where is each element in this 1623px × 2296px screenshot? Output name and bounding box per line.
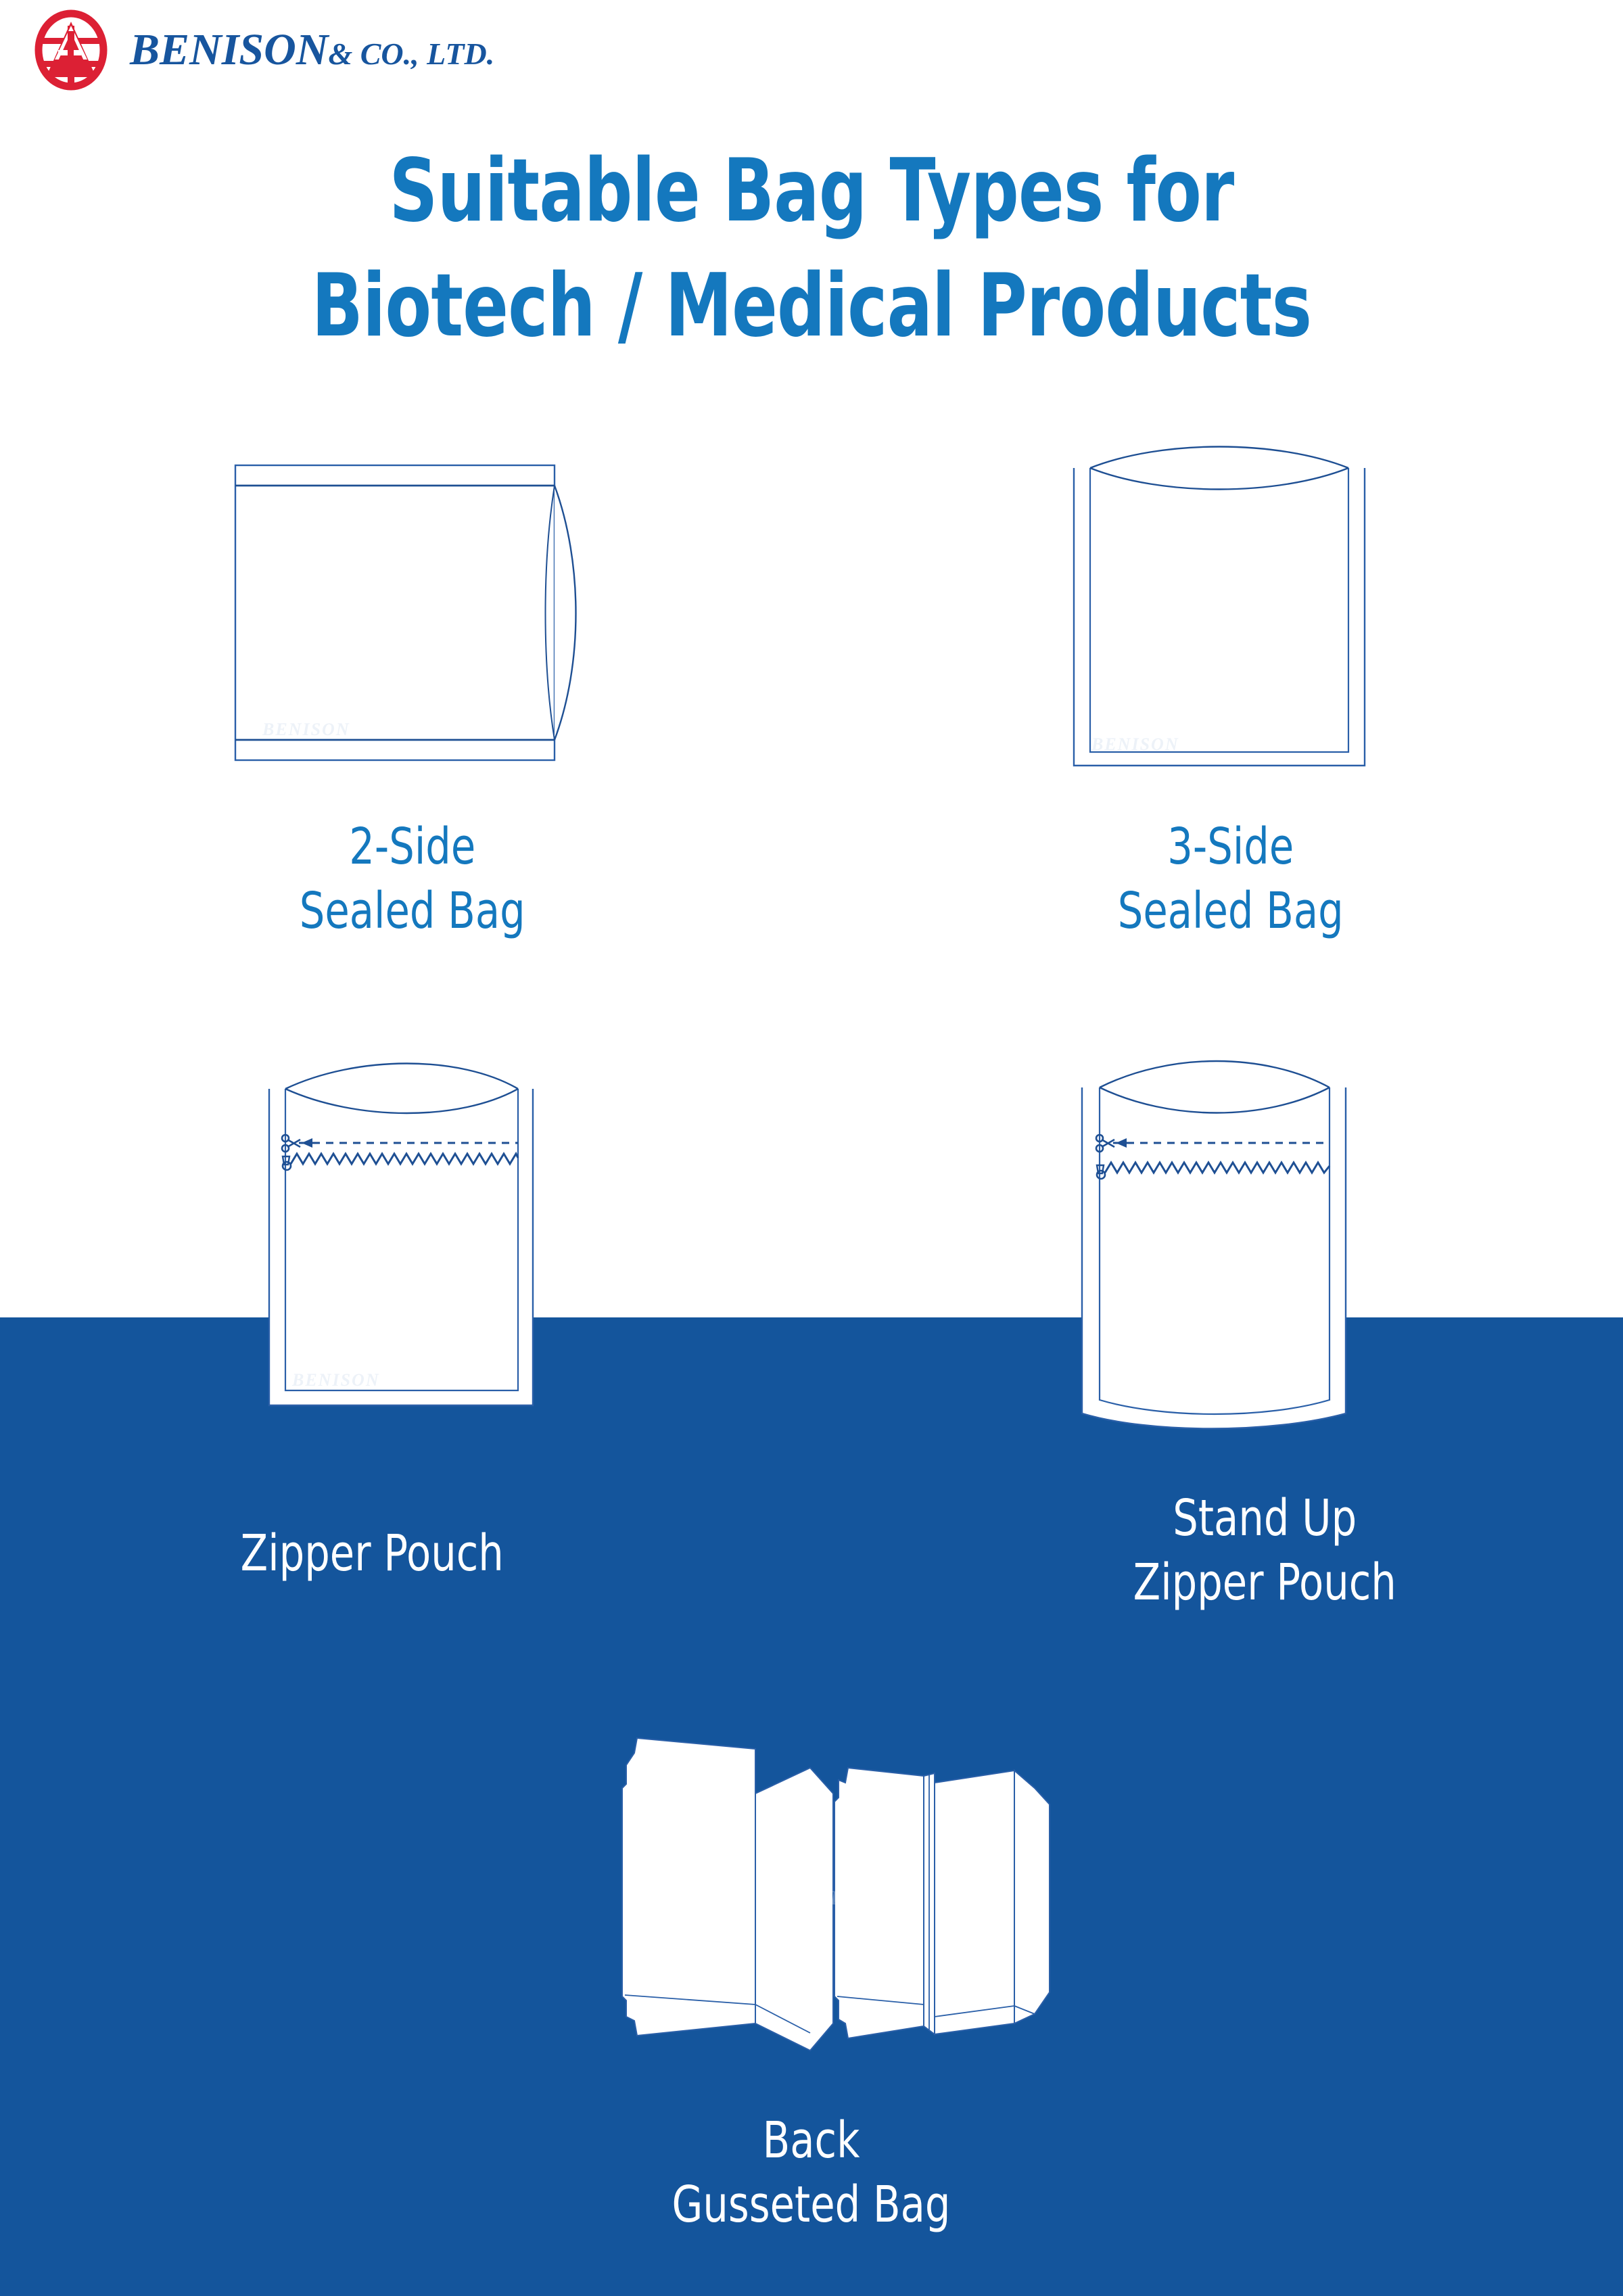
two-side-sealed-bag-icon [230,461,595,766]
brand-name: BENISON& CO., LTD. [130,28,494,72]
back-gusseted-bag-icon [595,1718,1055,2076]
brand-name-main: BENISON [130,25,328,74]
caption-line: 3-Side [1118,815,1344,879]
caption-line: Zipper Pouch [240,1522,503,1586]
caption-line: Sealed Bag [300,879,525,943]
gusseted-bag-front [622,1738,833,2051]
page-title: Suitable Bag Types for Biotech / Medical… [179,134,1444,364]
caption-stand-up-zipper-pouch: Stand Up Zipper Pouch [906,1486,1623,1614]
poster-page: BENISON& CO., LTD. Suitable Bag Types fo… [0,0,1623,2296]
benison-triangle-logo-icon [31,12,111,88]
caption-line: Back [672,2109,951,2173]
caption-line: Gusseted Bag [672,2173,951,2237]
zipper-pouch-icon [262,1067,573,1412]
caption-line: Stand Up [1133,1486,1396,1551]
caption-line: Zipper Pouch [1133,1551,1396,1615]
gusseted-bag-back [834,1768,1050,2038]
figure-zipper-pouch: BENISON [262,1067,573,1412]
figure-back-gusseted-bag: BENISON [595,1718,1055,2076]
page-title-line-2: Biotech / Medical Products [179,249,1444,364]
page-title-line-1: Suitable Bag Types for [179,134,1444,249]
figure-stand-up-zipper-pouch: BENISON [1075,1067,1400,1432]
caption-two-side-sealed-bag: 2-Side Sealed Bag [108,815,717,943]
figure-two-side-sealed-bag: BENISON [230,461,595,766]
brand-bar: BENISON& CO., LTD. [31,12,494,88]
three-side-sealed-bag-icon [1067,454,1385,772]
stand-up-zipper-pouch-icon [1075,1067,1400,1432]
brand-name-suffix: & CO., LTD. [328,37,494,71]
figure-three-side-sealed-bag: BENISON [1067,454,1385,772]
caption-line: Sealed Bag [1118,879,1344,943]
caption-zipper-pouch: Zipper Pouch [0,1522,744,1586]
caption-line: 2-Side [300,815,525,879]
caption-back-gusseted-bag: Back Gusseted Bag [473,2109,1150,2236]
caption-three-side-sealed-bag: 3-Side Sealed Bag [926,815,1535,943]
